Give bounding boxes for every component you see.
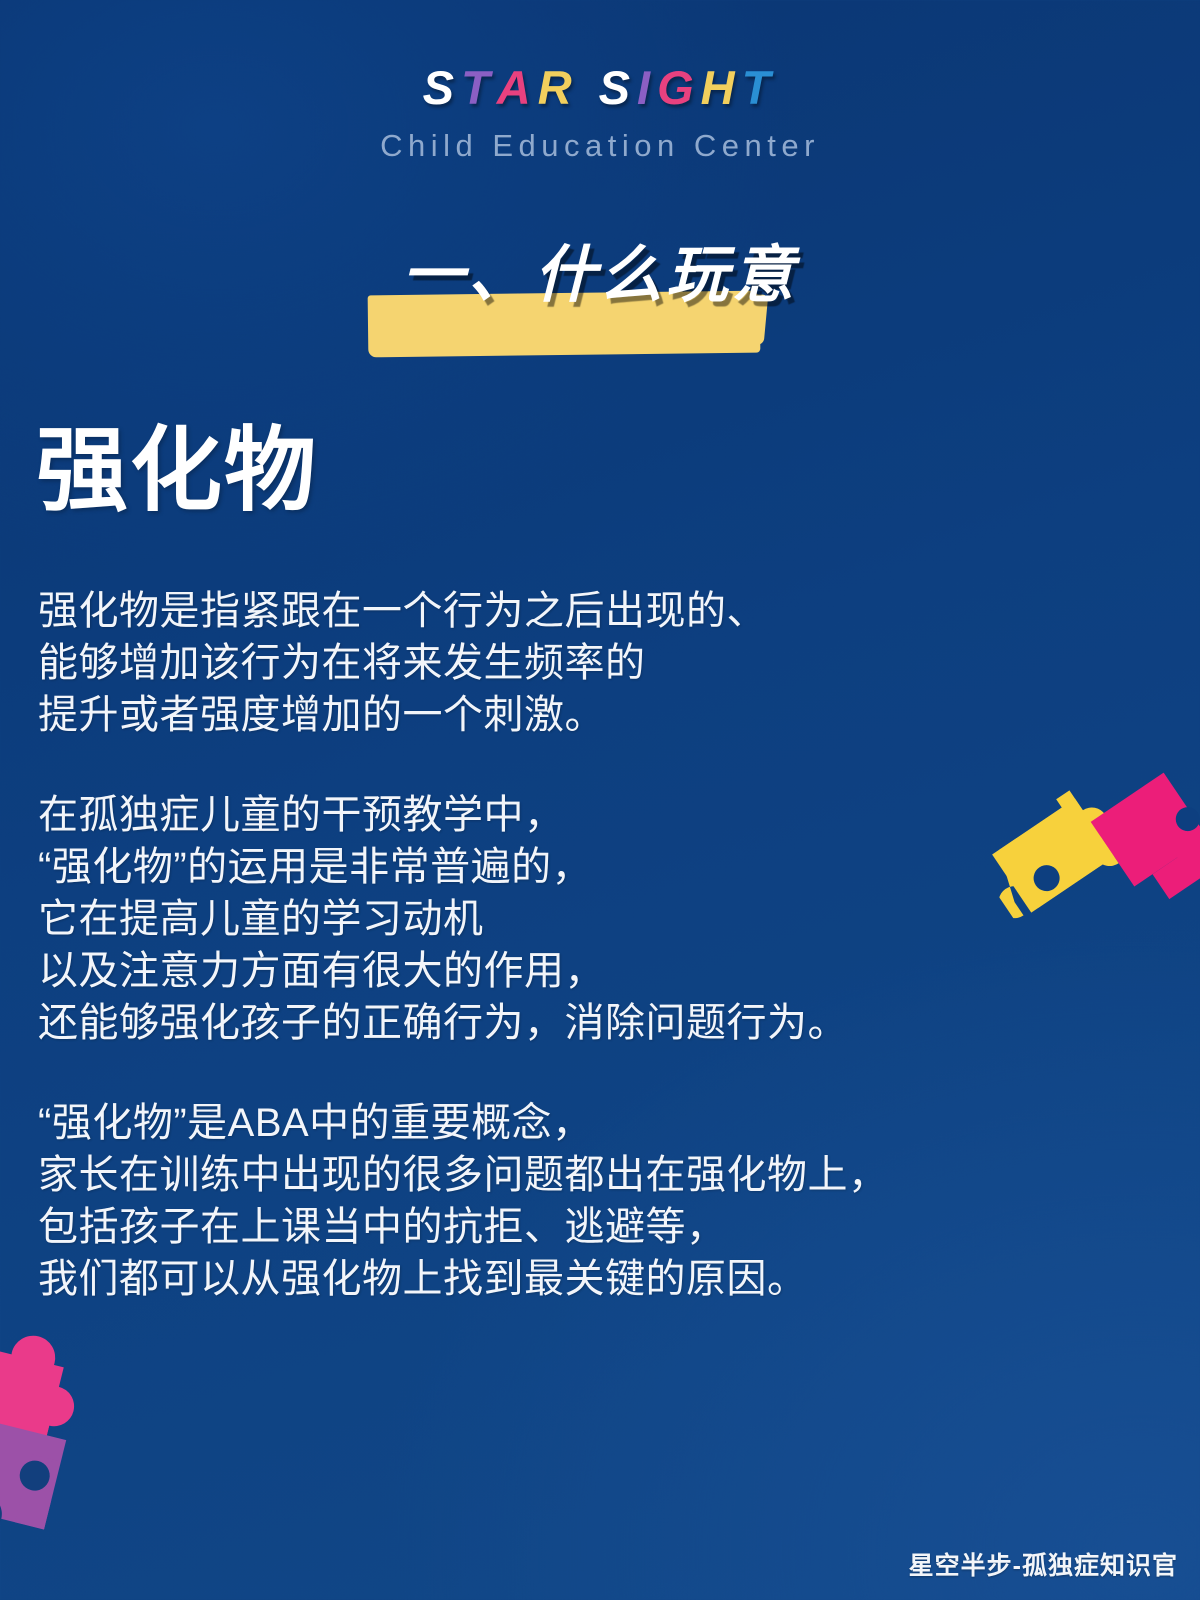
text-line: “强化物”是ABA中的重要概念， <box>38 1097 1148 1149</box>
text-line: 提升或者强度增加的一个刺激。 <box>38 689 1148 741</box>
text-line: 能够增加该行为在将来发生频率的 <box>38 637 1148 689</box>
brand-letter-s1: S <box>423 64 461 111</box>
brand-letter-t2: T <box>742 64 778 111</box>
brand-letter-g1: G <box>657 64 701 111</box>
brand-letter-h1: H <box>701 64 742 111</box>
watermark: 星空半步-孤独症知识官 <box>909 1546 1178 1582</box>
body-copy: 强化物是指紧跟在一个行为之后出现的、 能够增加该行为在将来发生频率的 提升或者强… <box>38 585 1148 1305</box>
brand-letter-a1: A <box>497 64 538 111</box>
brand-subtitle: Child Education Center <box>0 130 1200 161</box>
brand-letter-i1: I <box>637 64 657 111</box>
brand-letter-r1: R <box>538 64 579 111</box>
puzzle-purple-shape <box>0 1414 66 1549</box>
brand-header: STARSIGHT Child Education Center <box>0 64 1200 161</box>
paragraph-3: “强化物”是ABA中的重要概念， 家长在训练中出现的很多问题都出在强化物上， 包… <box>38 1097 1148 1305</box>
text-line: 家长在训练中出现的很多问题都出在强化物上， <box>38 1149 1148 1201</box>
brand-letter-t1: T <box>461 64 497 111</box>
text-line: 还能够强化孩子的正确行为，消除问题行为。 <box>38 997 1148 1049</box>
puzzle-piece-icon-bottom-left <box>0 1309 204 1574</box>
text-line: 在孤独症儿童的干预教学中， <box>38 789 1148 841</box>
main-heading: 强化物 <box>36 425 318 517</box>
brand-title: STARSIGHT <box>0 64 1200 111</box>
brand-letter-s2: S <box>599 64 637 111</box>
poster-page: { "brand": { "title_letters": [ {"ch": "… <box>0 0 1200 1600</box>
text-line: 我们都可以从强化物上找到最关键的原因。 <box>38 1253 1148 1305</box>
puzzle-pink-shape <box>1077 769 1200 920</box>
text-line: 包括孩子在上课当中的抗拒、逃避等， <box>38 1201 1148 1253</box>
paragraph-2: 在孤独症儿童的干预教学中， “强化物”的运用是非常普遍的， 它在提高儿童的学习动… <box>38 789 1148 1049</box>
text-line: 以及注意力方面有很大的作用， <box>38 945 1148 997</box>
section-title: 一、什么玩意 <box>0 240 1200 311</box>
text-line: 它在提高儿童的学习动机 <box>38 893 1148 945</box>
paragraph-1: 强化物是指紧跟在一个行为之后出现的、 能够增加该行为在将来发生频率的 提升或者强… <box>38 585 1148 741</box>
section-heading-block: 一、什么玩意 <box>0 240 1200 365</box>
text-line: 强化物是指紧跟在一个行为之后出现的、 <box>38 585 1148 637</box>
